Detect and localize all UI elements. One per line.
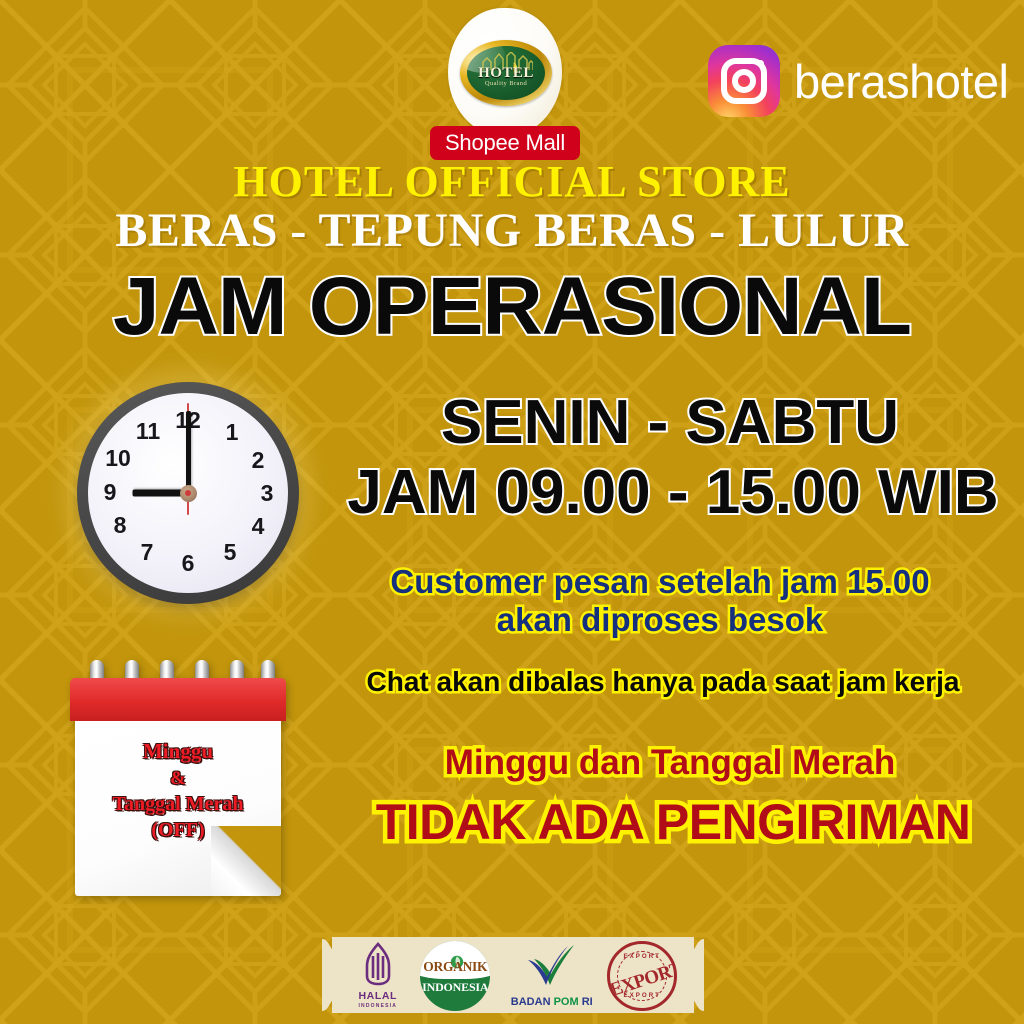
instagram-block[interactable]: berashotel [708, 45, 1009, 117]
clock-number-5: 5 [217, 541, 243, 564]
no-delivery-label: TIDAK ADA PENGIRIMAN [320, 797, 1024, 847]
poster-canvas: HOTEL Quality Brand Shopee Mall berashot… [0, 0, 1024, 1024]
wall-clock-icon: 12 1 2 3 4 5 6 7 8 9 10 11 [77, 382, 299, 604]
halal-gunungan-glyph [355, 942, 401, 986]
calendar-text: Minggu & Tanggal Merah (OFF) [70, 738, 286, 844]
instagram-icon[interactable] [708, 45, 780, 117]
clock-number-7: 7 [134, 541, 160, 564]
page-title: JAM OPERASIONAL [0, 266, 1024, 348]
clock-minute-hand [186, 411, 191, 493]
calendar-line-2: & [70, 766, 286, 791]
certification-strip: HALAL INDONESIA ORGANIK INDONESIA [322, 931, 704, 1019]
instagram-dot [757, 60, 764, 67]
halal-sublabel: INDONESIA [345, 1002, 411, 1010]
after-hours-note-line1: Customer pesan setelah jam 15.00 [310, 563, 1010, 601]
certification-row: HALAL INDONESIA ORGANIK INDONESIA [340, 937, 686, 1015]
pom-check-glyph [525, 944, 579, 992]
badan-pom-ri-icon: BADAN POM RI [506, 944, 598, 1008]
pom-label-part1: BADAN [511, 996, 554, 1008]
calendar-header-band [70, 678, 286, 721]
chat-reply-note: Chat akan dibalas hanya pada saat jam ke… [310, 668, 1016, 696]
organik-circle: ORGANIK INDONESIA [420, 941, 490, 1011]
clock-number-1: 1 [219, 421, 245, 444]
clock-number-11: 11 [135, 420, 161, 443]
export-stamp-icon: EXPORT EXPORT EXPORT [607, 941, 681, 1011]
organik-sublabel: INDONESIA [420, 981, 490, 993]
clock-face: 12 1 2 3 4 5 6 7 8 9 10 11 [88, 393, 288, 593]
store-title-line: HOTEL OFFICIAL STORE [0, 160, 1024, 204]
pom-label: BADAN POM RI [506, 997, 598, 1008]
organik-label: ORGANIK [420, 960, 490, 974]
clock-number-10: 10 [105, 447, 131, 470]
shopee-mall-badge[interactable]: Shopee Mall [430, 126, 580, 160]
instagram-lens [732, 69, 756, 93]
closed-days-label: Minggu dan Tanggal Merah [320, 745, 1020, 780]
calendar-line-4: (OFF) [70, 817, 286, 843]
logo-sub-text: Quality Brand [467, 81, 545, 88]
instagram-handle[interactable]: berashotel [794, 54, 1009, 109]
clock-number-9: 9 [97, 481, 123, 504]
after-hours-note-line2: akan diproses besok [310, 601, 1010, 639]
after-hours-note: Customer pesan setelah jam 15.00 akan di… [310, 563, 1010, 638]
organik-indonesia-icon: ORGANIK INDONESIA [420, 941, 496, 1011]
pom-label-part3: RI [582, 996, 593, 1008]
pom-label-part2: POM [554, 996, 582, 1008]
operating-days: SENIN - SABTU [320, 392, 1020, 454]
halal-label: HALAL [345, 991, 411, 1002]
clock-number-4: 4 [245, 515, 271, 538]
logo-main-text: HOTEL [467, 66, 545, 81]
export-stamp-circle: EXPORT EXPORT EXPORT [607, 941, 677, 1011]
logo-green-oval: HOTEL Quality Brand [467, 46, 545, 100]
clock-number-8: 8 [107, 514, 133, 537]
calendar-icon: Minggu & Tanggal Merah (OFF) [70, 660, 286, 898]
calendar-line-1: Minggu [70, 738, 286, 766]
calendar-line-3: Tanggal Merah [70, 791, 286, 817]
hotel-brand-logo: HOTEL Quality Brand Shopee Mall [430, 8, 580, 160]
clock-number-3: 3 [254, 482, 280, 505]
header: HOTEL Quality Brand Shopee Mall berashot… [0, 0, 1024, 160]
clock-center-hub [180, 485, 197, 502]
halal-indonesia-icon: HALAL INDONESIA [345, 942, 411, 1010]
export-arc-top: EXPORT [610, 953, 674, 960]
operating-hours: JAM 09.00 - 15.00 WIB [320, 462, 1024, 524]
clock-number-6: 6 [175, 552, 201, 575]
product-categories-line: BERAS - TEPUNG BERAS - LULUR [0, 207, 1024, 255]
clock-number-2: 2 [245, 449, 271, 472]
